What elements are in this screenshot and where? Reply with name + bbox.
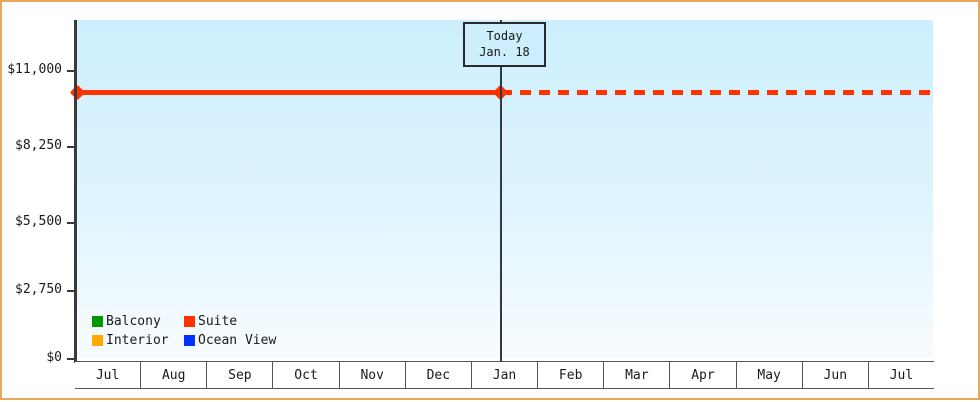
y-axis-line xyxy=(74,20,77,363)
x-axis-month-apr[interactable]: Apr xyxy=(670,362,736,388)
today-tooltip-date: Jan. 18 xyxy=(465,44,544,60)
chart-legend: Balcony Suite Interior Ocean View xyxy=(92,312,276,350)
x-axis-month-jan[interactable]: Jan xyxy=(472,362,538,388)
x-axis-month-feb[interactable]: Feb xyxy=(538,362,604,388)
x-axis-month-sep[interactable]: Sep xyxy=(207,362,273,388)
legend-swatch-balcony xyxy=(92,316,103,327)
x-axis-month-dec[interactable]: Dec xyxy=(406,362,472,388)
y-axis-label-8250: $8,250 xyxy=(15,139,62,152)
legend-item-ocean-view[interactable]: Ocean View xyxy=(184,331,276,350)
legend-label-interior: Interior xyxy=(106,333,169,348)
series-line-suite-forecast xyxy=(501,90,933,95)
legend-swatch-ocean-view xyxy=(184,335,195,346)
chart-frame: Today Jan. 18 Balcony Suite Interior Oce… xyxy=(0,0,980,400)
x-axis-month-jul-2[interactable]: Jul xyxy=(869,362,934,388)
legend-swatch-interior xyxy=(92,335,103,346)
y-axis-label-2750: $2,750 xyxy=(15,283,62,296)
today-marker-tooltip: Today Jan. 18 xyxy=(463,22,546,67)
y-axis-label-5500: $5,500 xyxy=(15,215,62,228)
y-axis-labels: $11,000 $8,250 $5,500 $2,750 $0 xyxy=(2,2,74,402)
x-axis-month-jul-1[interactable]: Jul xyxy=(75,362,141,388)
legend-swatch-suite xyxy=(184,316,195,327)
y-axis-label-0: $0 xyxy=(46,351,62,364)
legend-label-suite: Suite xyxy=(198,314,237,329)
x-axis-month-row: Jul Aug Sep Oct Nov Dec Jan Feb Mar Apr … xyxy=(75,361,934,389)
x-axis-month-aug[interactable]: Aug xyxy=(141,362,207,388)
plot-area: Today Jan. 18 Balcony Suite Interior Oce… xyxy=(77,20,933,358)
x-axis-month-jun[interactable]: Jun xyxy=(803,362,869,388)
legend-label-ocean-view: Ocean View xyxy=(198,333,276,348)
x-axis-month-oct[interactable]: Oct xyxy=(273,362,339,388)
legend-item-interior[interactable]: Interior xyxy=(92,331,184,350)
legend-item-suite[interactable]: Suite xyxy=(184,312,276,331)
today-marker-line xyxy=(500,20,502,363)
today-tooltip-title: Today xyxy=(465,28,544,44)
legend-item-balcony[interactable]: Balcony xyxy=(92,312,184,331)
legend-label-balcony: Balcony xyxy=(106,314,161,329)
series-line-suite-actual xyxy=(77,90,501,95)
x-axis-month-mar[interactable]: Mar xyxy=(604,362,670,388)
y-axis-label-11000: $11,000 xyxy=(7,63,62,76)
x-axis-month-may[interactable]: May xyxy=(737,362,803,388)
x-axis-month-nov[interactable]: Nov xyxy=(340,362,406,388)
